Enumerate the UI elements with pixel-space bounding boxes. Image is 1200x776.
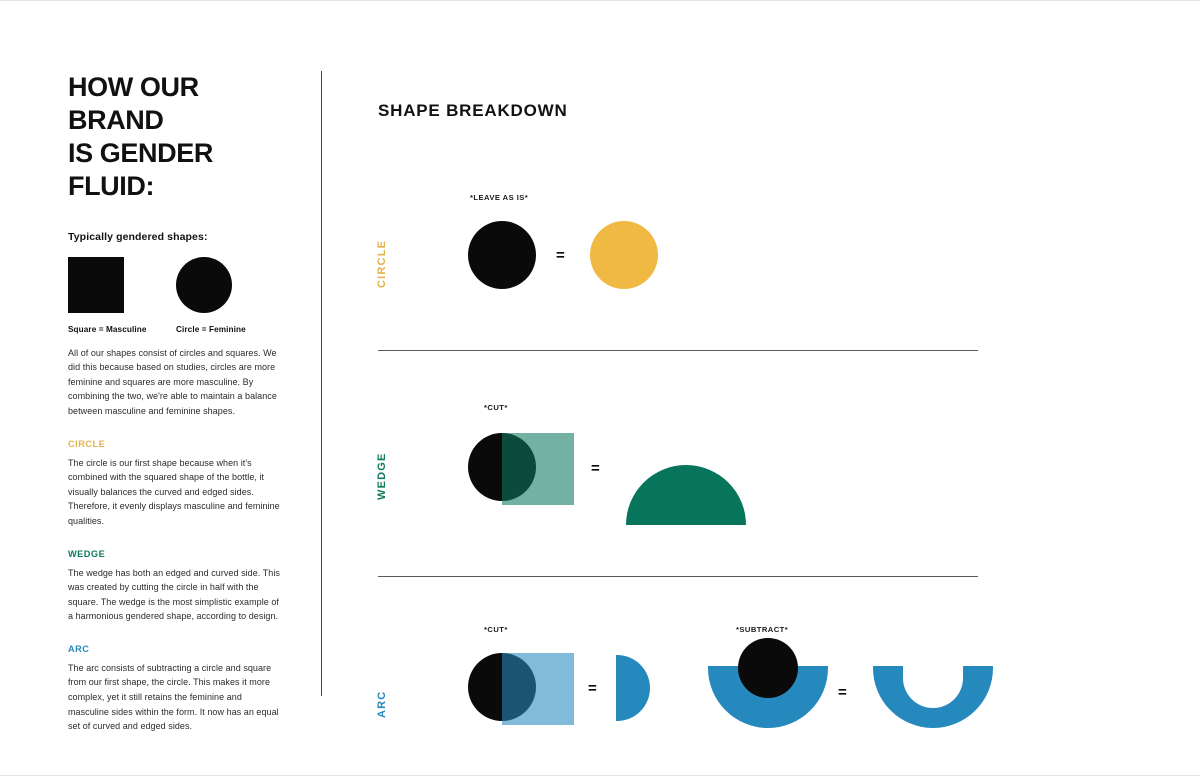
circle-icon [176,257,232,313]
section-heading-circle: CIRCLE [68,439,283,449]
gendered-shape-square: Square = Masculine [68,257,138,334]
gendered-shapes-row: Square = Masculine Circle = Feminine [68,257,283,334]
breakdown-row-circle: CIRCLE *LEAVE AS IS* = [378,143,980,348]
intro-paragraph: All of our shapes consist of circles and… [68,346,283,419]
left-column: HOW OUR BRAND IS GENDER FLUID: Typically… [68,71,283,734]
source-circle-black-icon [468,221,536,289]
arc-intermediate-semicircle-icon [616,655,650,721]
typically-gendered-shapes-label: Typically gendered shapes: [68,231,283,243]
arc-subtract-circle-icon [738,638,798,698]
result-circle-yellow-icon [590,221,658,289]
right-column: SHAPE BREAKDOWN CIRCLE *LEAVE AS IS* = W… [378,101,980,758]
shape-breakdown-title: SHAPE BREAKDOWN [378,101,980,121]
row-label-wedge: WEDGE [376,452,388,500]
page-title: HOW OUR BRAND IS GENDER FLUID: [68,71,283,203]
wedge-cutting-square-icon [502,433,574,505]
row-label-circle: CIRCLE [376,240,388,288]
operation-caption-cut-arc: *CUT* [484,625,508,634]
equals-sign-arc-2: = [838,685,847,700]
square-icon [68,257,124,313]
section-body-circle: The circle is our first shape because wh… [68,456,283,529]
result-arc-icon [873,666,993,728]
result-wedge-icon [626,465,746,525]
row-label-arc: ARC [376,691,388,718]
breakdown-row-arc: ARC *CUT* = *SUBTRACT* = [378,553,980,758]
section-wedge: WEDGE The wedge has both an edged and cu… [68,549,283,624]
section-heading-arc: ARC [68,644,283,654]
vertical-divider [321,71,322,696]
operation-caption-leave-as-is: *LEAVE AS IS* [470,193,528,202]
operation-caption-subtract: *SUBTRACT* [736,625,788,634]
section-body-arc: The arc consists of subtracting a circle… [68,661,283,734]
section-arc: ARC The arc consists of subtracting a ci… [68,644,283,734]
section-body-wedge: The wedge has both an edged and curved s… [68,566,283,624]
equals-sign-wedge: = [591,461,600,476]
section-heading-wedge: WEDGE [68,549,283,559]
gendered-shape-circle: Circle = Feminine [176,257,246,334]
breakdown-row-wedge: WEDGE *CUT* = [378,348,980,553]
square-caption: Square = Masculine [68,325,138,334]
arc-cutting-square-icon [502,653,574,725]
equals-sign-arc-1: = [588,681,597,696]
equals-sign-circle: = [556,248,565,263]
arc-final-cutout [903,666,963,708]
square-swatch-wrap [68,257,138,313]
circle-swatch-wrap [176,257,246,313]
section-circle: CIRCLE The circle is our first shape bec… [68,439,283,529]
operation-caption-cut-wedge: *CUT* [484,403,508,412]
poster-canvas: HOW OUR BRAND IS GENDER FLUID: Typically… [0,0,1200,776]
circle-caption: Circle = Feminine [176,325,246,334]
